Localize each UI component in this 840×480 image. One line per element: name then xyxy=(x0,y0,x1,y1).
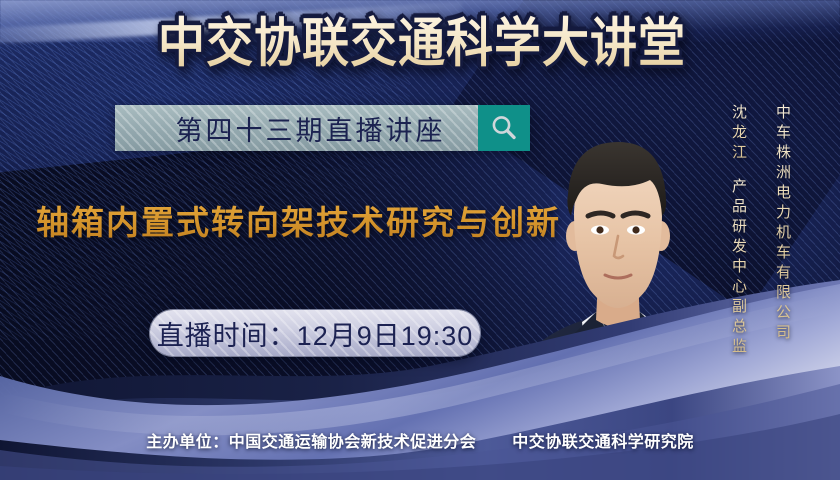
page-title: 中交协联交通科学大讲堂 xyxy=(0,14,840,72)
episode-banner-body: 第四十三期直播讲座 xyxy=(115,105,478,151)
broadcast-time-text: 直播时间：12月9日19:30 xyxy=(157,314,474,353)
episode-banner: 第四十三期直播讲座 xyxy=(115,105,530,151)
footer-organizer: 主办单位：中国交通运输协会新技术促进分会 xyxy=(146,434,476,451)
speaker-name: 沈龙江 xyxy=(728,104,749,164)
lecture-title: 轴箱内置式转向架技术研究与创新 xyxy=(36,196,561,244)
search-icon[interactable] xyxy=(478,105,530,151)
livestream-poster: 中交协联交通科学大讲堂 第四十三期直播讲座 轴箱内置式转向架技术研究与创新 直播… xyxy=(0,0,840,480)
footer: 主办单位：中国交通运输协会新技术促进分会 中交协联交通科学研究院 xyxy=(0,428,840,452)
speaker-role: 产品研发中心副总监 xyxy=(728,178,749,358)
episode-label: 第四十三期直播讲座 xyxy=(148,109,446,148)
footer-institute: 中交协联交通科学研究院 xyxy=(512,434,694,451)
broadcast-time-badge: 直播时间：12月9日19:30 xyxy=(150,310,480,356)
speaker-company: 中车株洲电力机车有限公司 xyxy=(772,104,793,344)
